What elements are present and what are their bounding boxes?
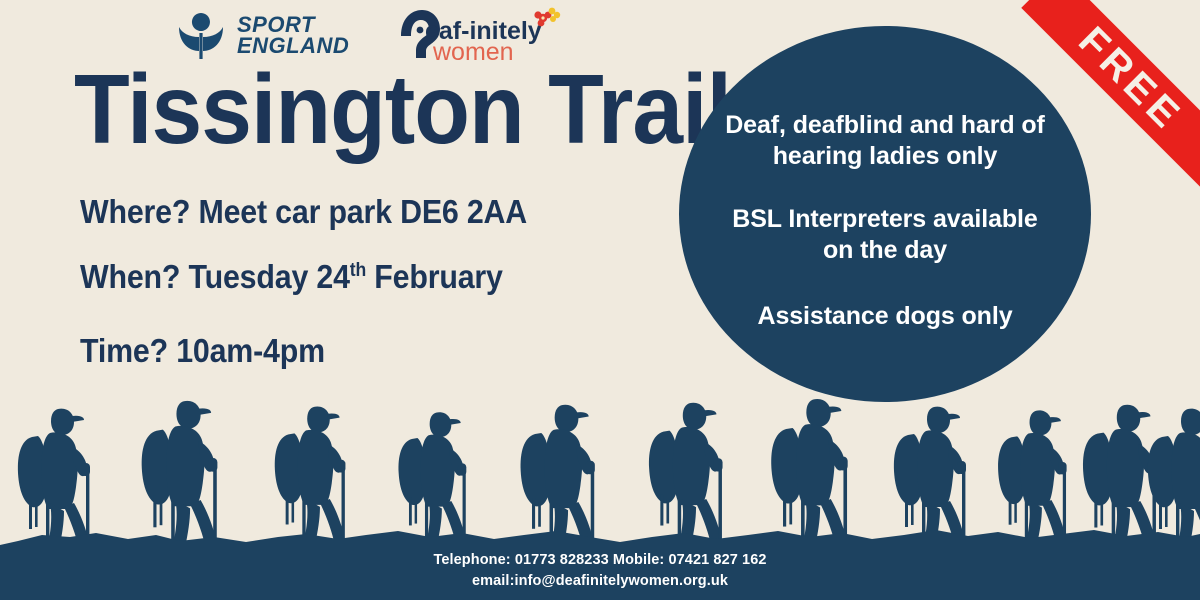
free-ribbon-label: FREE bbox=[1072, 20, 1190, 138]
detail-where: Where? Meet car park DE6 2AA bbox=[80, 193, 527, 231]
detail-when-label: When? bbox=[80, 258, 180, 295]
footer-email: email:info@deafinitelywomen.org.uk bbox=[0, 571, 1200, 592]
detail-where-label: Where? bbox=[80, 193, 190, 230]
ellipse-line-2: hearing ladies only bbox=[773, 142, 998, 170]
ellipse-block-audience: Deaf, deafblind and hard of hearing ladi… bbox=[720, 110, 1050, 171]
flower-icon bbox=[535, 8, 561, 27]
sport-england-line1: SPORT bbox=[237, 14, 349, 35]
detail-when-value-post: February bbox=[374, 258, 502, 295]
ellipse-line-3: BSL Interpreters available bbox=[732, 205, 1037, 233]
page-title: Tissington Trail bbox=[74, 60, 731, 160]
footer-contact: Telephone: 01773 828233 Mobile: 07421 82… bbox=[0, 550, 1200, 592]
detail-where-value: Meet car park DE6 2AA bbox=[198, 193, 527, 230]
detail-when-value-pre: Tuesday 24 bbox=[189, 258, 350, 295]
ellipse-block-dogs: Assistance dogs only bbox=[720, 301, 1050, 332]
ellipse-line-4: on the day bbox=[823, 236, 947, 264]
detail-when: When? Tuesday 24th February bbox=[80, 258, 503, 296]
detail-when-ordinal: th bbox=[350, 260, 366, 281]
sport-england-wordmark: SPORT ENGLAND bbox=[237, 14, 349, 56]
ellipse-block-interpreters: BSL Interpreters available on the day bbox=[720, 204, 1050, 265]
sport-england-line2: ENGLAND bbox=[237, 35, 349, 56]
ellipse-line-5: Assistance dogs only bbox=[757, 302, 1012, 330]
event-poster: SPORT ENGLAND eaf-initely women bbox=[0, 0, 1200, 600]
detail-time-value: 10am-4pm bbox=[176, 332, 325, 369]
detail-time: Time? 10am-4pm bbox=[80, 332, 325, 370]
info-ellipse: Deaf, deafblind and hard of hearing ladi… bbox=[679, 26, 1091, 402]
detail-time-label: Time? bbox=[80, 332, 168, 369]
footer-phones: Telephone: 01773 828233 Mobile: 07421 82… bbox=[0, 550, 1200, 571]
ellipse-line-1: Deaf, deafblind and hard of bbox=[725, 111, 1045, 139]
